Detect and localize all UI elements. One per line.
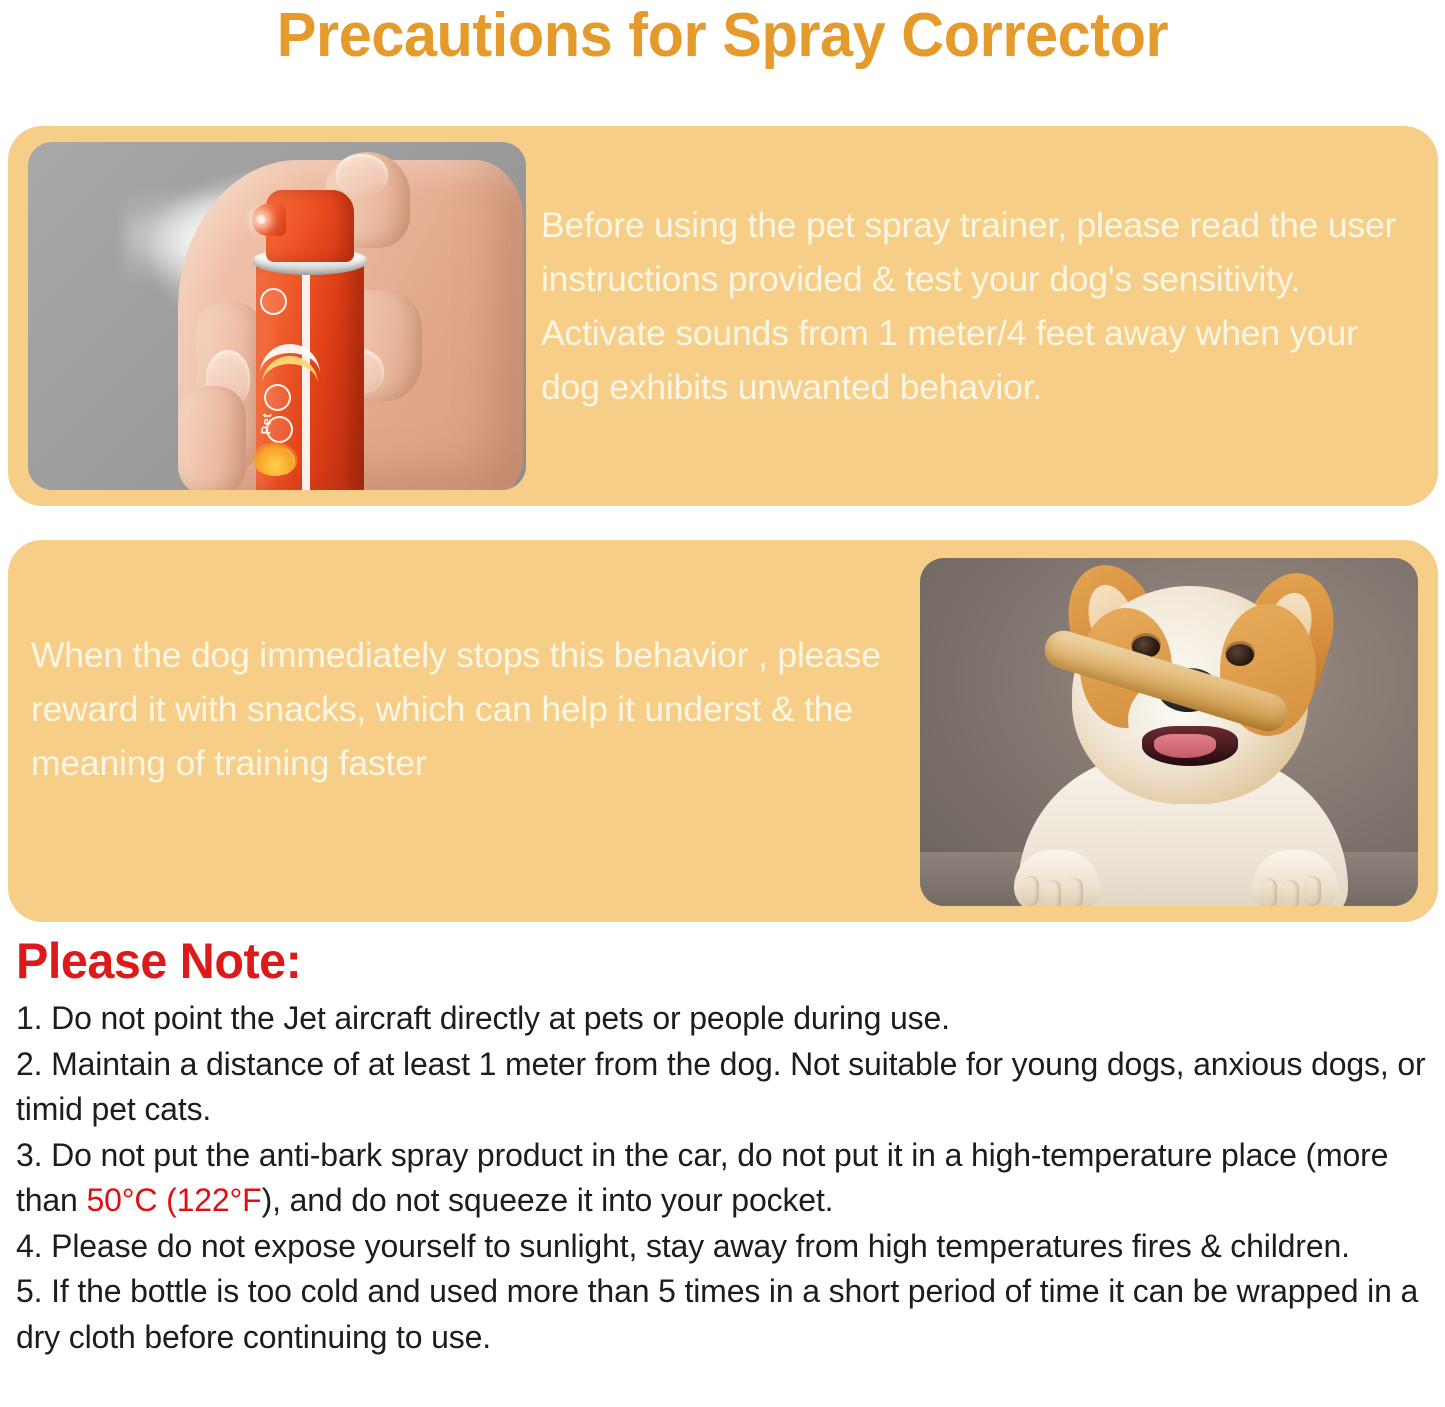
note-text-run: 1. Do not point the Jet aircraft directl…: [16, 1000, 950, 1036]
note-text-run: 5. If the bottle is too cold and used mo…: [16, 1273, 1418, 1355]
please-note-section: Please Note: 1. Do not point the Jet air…: [16, 930, 1431, 1360]
note-item: 1. Do not point the Jet aircraft directl…: [16, 996, 1431, 1042]
paw-toe: [1260, 878, 1277, 906]
nozzle-spray-hole: [255, 214, 267, 225]
precaution-panel-reward: When the dog immediately stops this beha…: [8, 540, 1438, 922]
dog-right-paw: [1252, 850, 1338, 906]
note-text-run: ), and do not squeeze it into your pocke…: [262, 1182, 834, 1218]
paw-toe: [1066, 878, 1083, 906]
can-no-heat-icon: [264, 384, 291, 411]
corgi-with-chew-stick-photo: [920, 558, 1418, 906]
note-list: 1. Do not point the Jet aircraft directl…: [16, 996, 1431, 1360]
paw-toe: [1022, 876, 1039, 906]
can-flame-graphic: [252, 442, 298, 476]
panel-usage-text: Before using the pet spray trainer, plea…: [541, 198, 1426, 414]
note-item: 2. Maintain a distance of at least 1 met…: [16, 1042, 1431, 1133]
please-note-heading: Please Note:: [16, 930, 1389, 992]
ring-finger: [178, 386, 246, 490]
dog-right-eye: [1226, 644, 1254, 666]
can-flame-warning-icon: [260, 288, 287, 315]
precaution-panel-usage: Pet Before using the pet spray trainer, …: [8, 126, 1438, 506]
hand-holding-spray-can-photo: Pet: [28, 142, 526, 490]
paw-toe: [1044, 880, 1061, 906]
panel-reward-text: When the dog immediately stops this beha…: [31, 628, 891, 790]
note-item: 5. If the bottle is too cold and used mo…: [16, 1269, 1431, 1360]
dog-left-paw: [1014, 850, 1100, 906]
note-text-run: 2. Maintain a distance of at least 1 met…: [16, 1046, 1426, 1128]
note-item: 3. Do not put the anti-bark spray produc…: [16, 1133, 1431, 1224]
page-title: Precautions for Spray Corrector: [29, 0, 1416, 76]
note-text-run: 4. Please do not expose yourself to sunl…: [16, 1228, 1350, 1264]
paw-toe: [1282, 880, 1299, 906]
paw-toe: [1304, 876, 1321, 906]
note-item: 4. Please do not expose yourself to sunl…: [16, 1224, 1431, 1270]
dog-tongue: [1154, 734, 1216, 758]
can-brand-label: Pet: [258, 412, 274, 435]
thumb-nail: [336, 154, 388, 194]
temperature-warning-value: 50°C (122°F: [86, 1182, 261, 1218]
